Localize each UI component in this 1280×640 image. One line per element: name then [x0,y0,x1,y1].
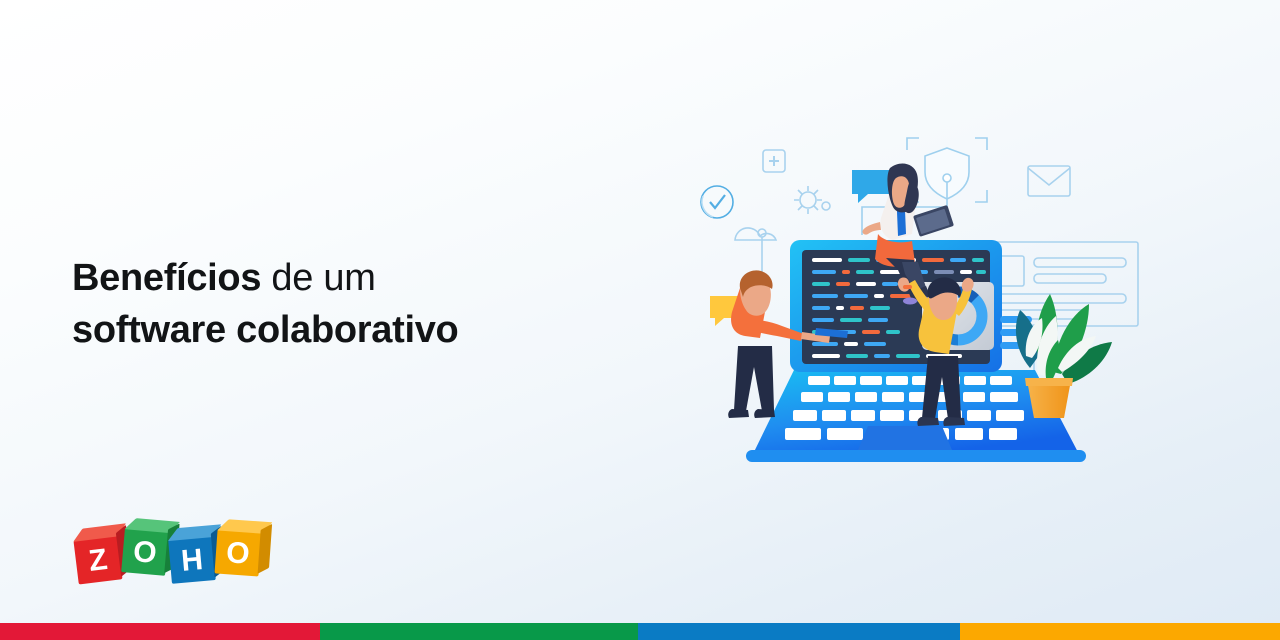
promo-banner: Benefícios de um software colaborativo Z… [0,0,1280,640]
gear-icon [794,186,830,214]
check-circle-icon [701,186,733,218]
zoho-logo[interactable]: Z O H O [72,522,262,588]
logo-cube-o1: O [121,528,169,576]
logo-cube-o2: O [215,530,262,577]
trackpad [858,426,952,450]
page-title: Benefícios de um software colaborativo [72,252,632,356]
plus-square-icon [763,150,785,172]
headline-bold-part: Benefícios [72,257,261,299]
envelope-icon [1028,166,1070,196]
logo-cube-h: H [168,536,216,584]
color-bar-segment-red [0,623,320,640]
color-bar-segment-orange [960,623,1280,640]
headline-line-2: software colaborativo [72,304,632,356]
cloud-upload-icon [735,228,776,277]
headline-regular-part: de um [261,257,375,299]
hero-illustration [690,130,1140,480]
logo-cube-z: Z [73,535,122,584]
headline-line-1: Benefícios de um [72,252,632,304]
color-bar-segment-blue [638,623,960,640]
color-bar-segment-green [320,623,638,640]
brand-color-bar [0,623,1280,640]
